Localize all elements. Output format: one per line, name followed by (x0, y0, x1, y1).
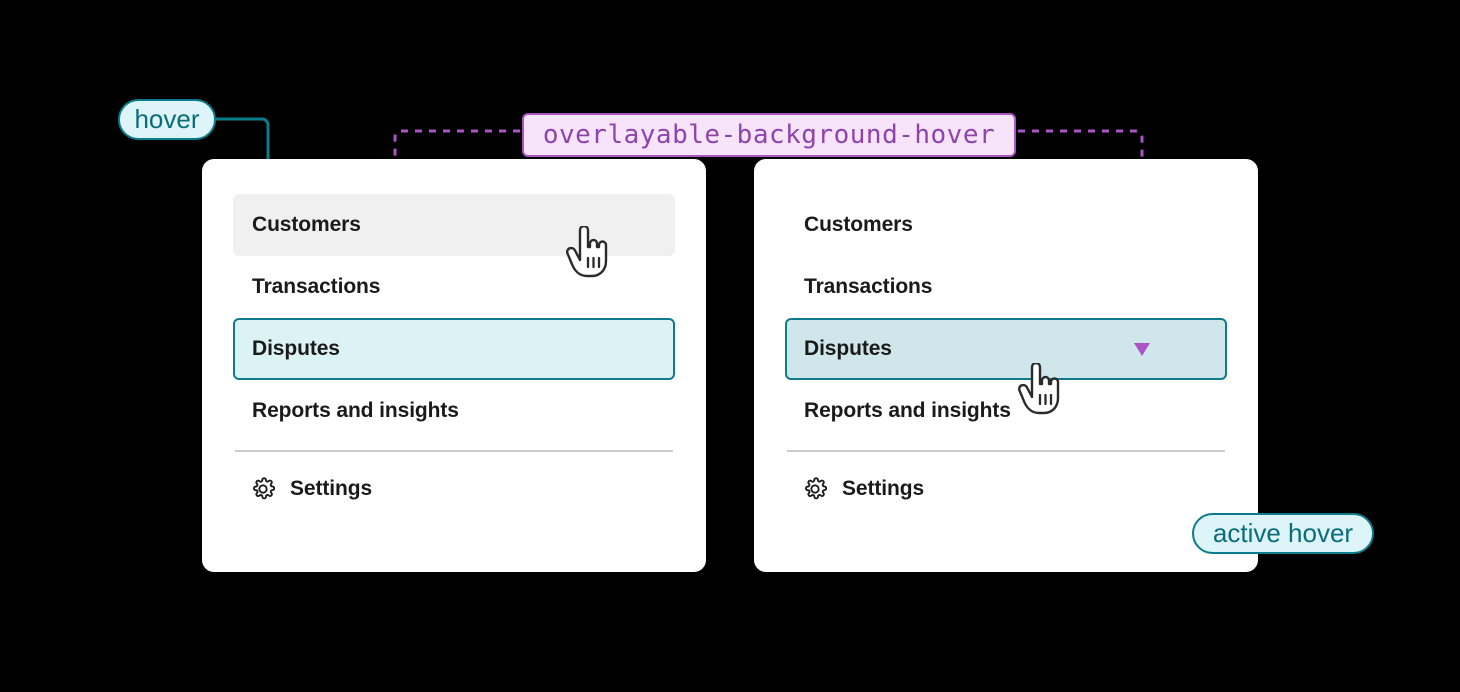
nav-item-disputes[interactable]: Disputes (233, 318, 675, 380)
nav-item-label: Reports and insights (804, 399, 1011, 423)
menu-card-active-hover-example: Customers Transactions Disputes Reports … (754, 159, 1258, 572)
nav-item-label: Settings (290, 477, 372, 501)
nav-item-label: Transactions (252, 275, 380, 299)
token-label-overlayable-background-hover: overlayable-background-hover (522, 113, 1016, 157)
callout-active-hover: active hover (1192, 513, 1374, 554)
gear-icon (250, 476, 276, 502)
nav-item-customers[interactable]: Customers (785, 194, 1227, 256)
nav-item-label: Disputes (804, 337, 892, 361)
gear-icon (802, 476, 828, 502)
nav-item-transactions[interactable]: Transactions (785, 256, 1227, 318)
nav-item-settings[interactable]: Settings (785, 458, 1227, 520)
nav-item-label: Reports and insights (252, 399, 459, 423)
diagram-canvas: Customers Transactions Disputes Reports … (0, 0, 1460, 692)
nav-item-disputes[interactable]: Disputes (785, 318, 1227, 380)
callout-active-hover-label: active hover (1213, 518, 1353, 549)
nav-item-reports-and-insights[interactable]: Reports and insights (233, 380, 675, 442)
nav-item-label: Transactions (804, 275, 932, 299)
nav-list: Customers Transactions Disputes Reports … (785, 194, 1227, 520)
callout-hover: hover (118, 99, 216, 140)
nav-divider (235, 450, 673, 452)
nav-item-label: Disputes (252, 337, 340, 361)
nav-item-label: Customers (804, 213, 913, 237)
menu-card-hover-example: Customers Transactions Disputes Reports … (202, 159, 706, 572)
callout-hover-label: hover (134, 104, 199, 135)
nav-item-customers[interactable]: Customers (233, 194, 675, 256)
nav-list: Customers Transactions Disputes Reports … (233, 194, 675, 520)
nav-item-label: Settings (842, 477, 924, 501)
nav-item-settings[interactable]: Settings (233, 458, 675, 520)
nav-item-reports-and-insights[interactable]: Reports and insights (785, 380, 1227, 442)
token-label-text: overlayable-background-hover (543, 120, 995, 150)
nav-item-label: Customers (252, 213, 361, 237)
nav-item-transactions[interactable]: Transactions (233, 256, 675, 318)
nav-divider (787, 450, 1225, 452)
